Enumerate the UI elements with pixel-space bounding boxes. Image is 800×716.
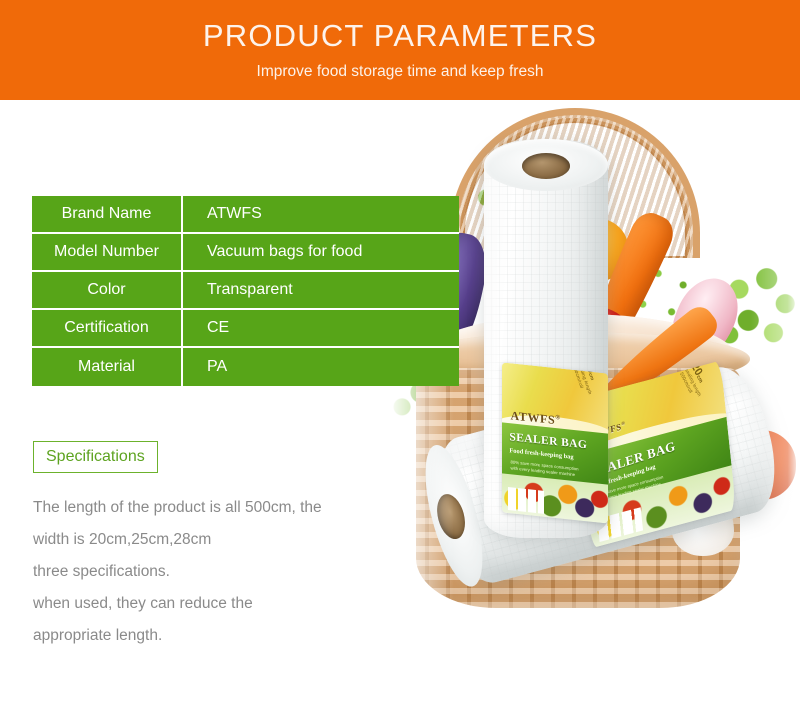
table-row: Brand Name ATWFS xyxy=(32,196,459,234)
spec-line: width is 20cm,25cm,28cm xyxy=(33,524,413,556)
table-row: Certification CE xyxy=(32,310,459,348)
product-parameters-page: PRODUCT PARAMETERS Improve food storage … xyxy=(0,0,800,716)
param-value: Transparent xyxy=(183,272,459,310)
spec-line: appropriate length. xyxy=(33,620,413,652)
spec-line: when used, they can reduce the xyxy=(33,588,413,620)
table-body: Brand Name ATWFS Model Number Vacuum bag… xyxy=(32,196,459,386)
specifications-text: The length of the product is all 500cm, … xyxy=(33,492,413,652)
param-value: ATWFS xyxy=(183,196,459,234)
page-subtitle: Improve food storage time and keep fresh xyxy=(0,62,800,81)
product-label: ATWFS® 20cmsealing length500cm/roll SEAL… xyxy=(502,362,608,523)
product-photo: ATWFS® 20cmsealing length500cm/roll SEAL… xyxy=(388,100,800,716)
spec-line: The length of the product is all 500cm, … xyxy=(33,492,413,524)
param-key: Color xyxy=(32,272,183,310)
table-row: Model Number Vacuum bags for food xyxy=(32,234,459,272)
param-key: Brand Name xyxy=(32,196,183,234)
product-parameters-table: Brand Name ATWFS Model Number Vacuum bag… xyxy=(32,196,459,386)
page-header-banner: PRODUCT PARAMETERS Improve food storage … xyxy=(0,0,800,100)
spec-line: three specifications. xyxy=(33,556,413,588)
registered-trademark-icon: ® xyxy=(621,421,626,427)
param-value: PA xyxy=(183,348,459,386)
param-key: Model Number xyxy=(32,234,183,272)
param-value: CE xyxy=(183,310,459,348)
param-key: Certification xyxy=(32,310,183,348)
param-value: Vacuum bags for food xyxy=(183,234,459,272)
table-row: Color Transparent xyxy=(32,272,459,310)
roll-cardboard-core xyxy=(522,153,570,179)
registered-trademark-icon: ® xyxy=(555,414,561,422)
page-title: PRODUCT PARAMETERS xyxy=(0,19,800,53)
label-bag-illustration xyxy=(508,487,544,513)
specifications-heading: Specifications xyxy=(33,441,158,473)
sealer-bag-roll-upright: ATWFS® 20cmsealing length500cm/roll SEAL… xyxy=(484,140,608,538)
table-row: Material PA xyxy=(32,348,459,386)
param-key: Material xyxy=(32,348,183,386)
